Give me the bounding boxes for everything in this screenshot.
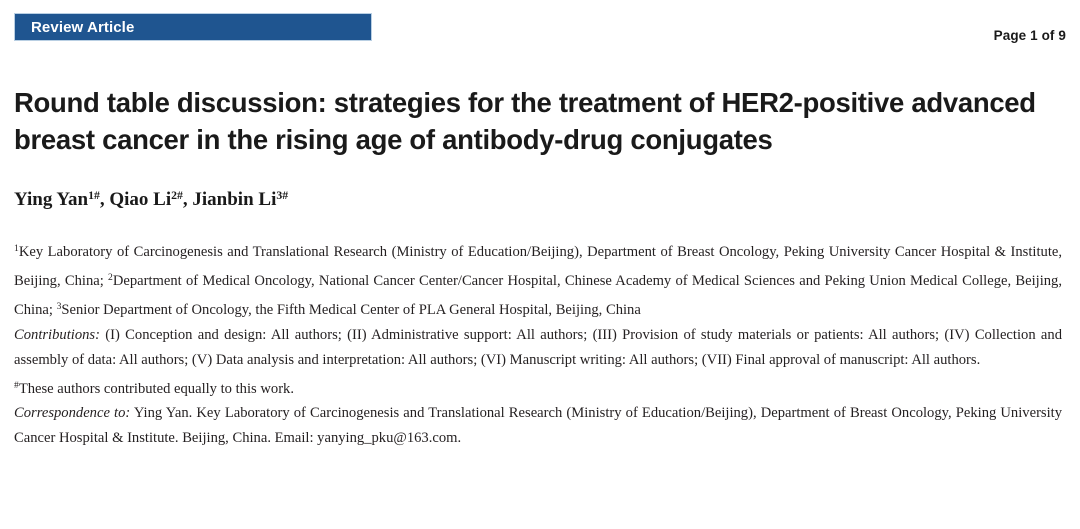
author-name: Qiao Li <box>109 189 171 210</box>
contributions-text: (I) Conception and design: All authors; … <box>14 327 1062 368</box>
journal-article-first-page: Review Article Page 1 of 9 Round table d… <box>0 0 1080 529</box>
correspondence-block: Correspondence to: Ying Yan. Key Laborat… <box>14 401 1062 451</box>
contributions-block: Contributions: (I) Conception and design… <box>14 323 1062 373</box>
author-name: Jianbin Li <box>192 189 276 210</box>
author-affiliation-marker: 2# <box>171 189 183 202</box>
author-separator: , <box>183 189 193 210</box>
contributions-label: Contributions: <box>14 327 100 343</box>
equal-contribution-note: #These authors contributed equally to th… <box>14 373 1062 402</box>
affiliations-block: 1Key Laboratory of Carcinogenesis and Tr… <box>14 236 1062 322</box>
author-name: Ying Yan <box>14 189 88 210</box>
article-type-label: Review Article <box>15 19 134 36</box>
author-affiliation-marker: 1# <box>88 189 100 202</box>
author-affiliation-marker: 3# <box>276 189 288 202</box>
author-entry: Ying Yan1# <box>14 189 100 210</box>
author-entry: Jianbin Li3# <box>192 189 288 210</box>
page-number-label: Page 1 of 9 <box>994 28 1066 43</box>
page-header: Review Article Page 1 of 9 <box>14 0 1066 56</box>
correspondence-label: Correspondence to: <box>14 405 130 421</box>
correspondence-text: Ying Yan. Key Laboratory of Carcinogenes… <box>14 405 1062 446</box>
equal-contribution-text: These authors contributed equally to thi… <box>19 380 294 396</box>
article-title: Round table discussion: strategies for t… <box>14 84 1066 158</box>
author-list: Ying Yan1#, Qiao Li2#, Jianbin Li3# <box>14 184 1066 212</box>
affiliation-text: Senior Department of Oncology, the Fifth… <box>61 302 640 318</box>
author-separator: , <box>100 189 110 210</box>
author-entry: Qiao Li2# <box>109 189 183 210</box>
article-type-banner: Review Article <box>14 13 372 41</box>
